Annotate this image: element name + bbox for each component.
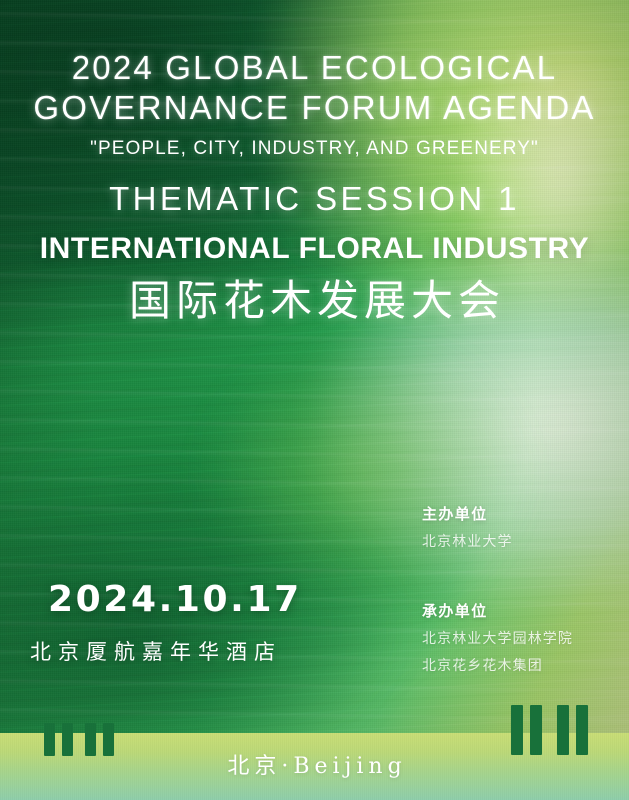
organizer-item: 北京林业大学园林学院 [422, 627, 573, 650]
event-venue: 北京厦航嘉年华酒店 [30, 638, 302, 666]
organizer-item: 北京花乡花木集团 [422, 654, 573, 677]
organizers-block: 主办单位 北京林业大学 承办单位 北京林业大学园林学院 北京花乡花木集团 [422, 504, 573, 677]
headline-subtitle: "PEOPLE, CITY, INDUSTRY, AND GREENERY" [0, 137, 629, 161]
session-title: THEMATIC SESSION 1 [0, 179, 629, 219]
industry-title: INTERNATIONAL FLORAL INDUSTRY [0, 231, 629, 267]
organizer-group-coorganizer: 承办单位 北京林业大学园林学院 北京花乡花木集团 [422, 601, 573, 677]
headline-block: 2024 GLOBAL ECOLOGICAL GOVERNANCE FORUM … [0, 48, 629, 327]
headline-line-1: 2024 GLOBAL ECOLOGICAL [0, 48, 629, 88]
organizer-group-host: 主办单位 北京林业大学 [422, 504, 573, 553]
organizer-label-coorganizer: 承办单位 [422, 601, 573, 623]
chinese-main-title: 国际花木发展大会 [0, 275, 629, 327]
decorative-bar-right-2 [530, 705, 542, 755]
organizer-label-host: 主办单位 [422, 504, 573, 526]
event-date: 2024.10.17 [48, 578, 302, 622]
poster-content: 2024 GLOBAL ECOLOGICAL GOVERNANCE FORUM … [0, 0, 629, 800]
organizer-item: 北京林业大学 [422, 530, 573, 553]
decorative-bar-right-4 [576, 705, 588, 755]
decorative-bar-right-1 [511, 705, 523, 755]
decorative-bar-right-3 [557, 705, 569, 755]
date-venue-block: 2024.10.17 北京厦航嘉年华酒店 [48, 578, 302, 666]
footer-caption: 北京·Beijing [0, 752, 629, 782]
headline-line-2: GOVERNANCE FORUM AGENDA [0, 88, 629, 128]
poster-canvas: 2024 GLOBAL ECOLOGICAL GOVERNANCE FORUM … [0, 0, 629, 800]
